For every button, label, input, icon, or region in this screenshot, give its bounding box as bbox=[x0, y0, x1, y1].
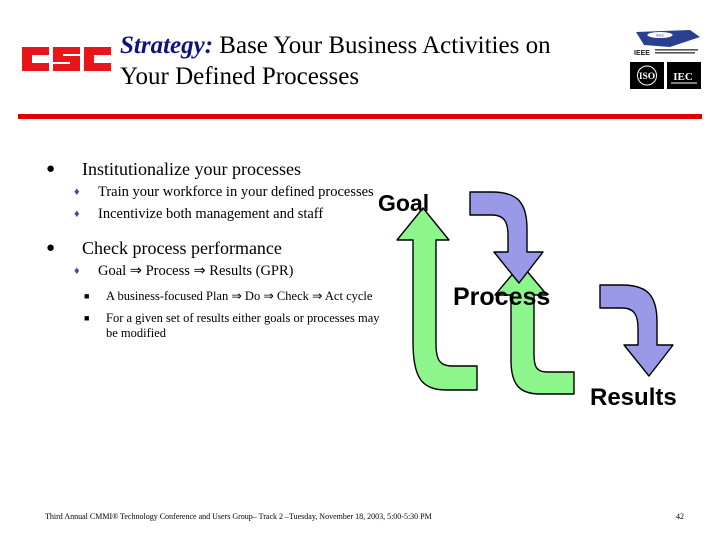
svg-text:IEEE: IEEE bbox=[634, 50, 650, 57]
bullet-text: Train your workforce in your defined pro… bbox=[98, 184, 374, 200]
footer-page-number: 42 bbox=[676, 512, 684, 521]
bullet-level1: ● Institutionalize your processes bbox=[36, 158, 386, 180]
csc-logo-graphic bbox=[20, 38, 120, 80]
bullet-marker-diamond: ♦ bbox=[74, 184, 80, 202]
diagram-label-process: Process bbox=[453, 283, 550, 312]
bullet-marker-diamond: ♦ bbox=[74, 206, 80, 224]
bullet-level3: ■ For a given set of results either goal… bbox=[72, 311, 386, 341]
bullet-text: A business-focused Plan ⇒ Do ⇒ Check ⇒ A… bbox=[106, 289, 372, 303]
ieee-logo: IEEE IEEE bbox=[630, 28, 702, 58]
title-line-1-rest: Base Your Business Activities on bbox=[213, 32, 551, 59]
bullet-level2: ♦ Train your workforce in your defined p… bbox=[60, 184, 386, 202]
bullet-level2: ♦ Goal ⇒ Process ⇒ Results (GPR) bbox=[60, 263, 386, 281]
iso-iec-logos: ISO IEC bbox=[630, 62, 706, 89]
bullet-text: For a given set of results either goals … bbox=[106, 311, 380, 340]
title-line-2: Your Defined Processes bbox=[120, 61, 620, 92]
bullet-marker-round: ● bbox=[46, 158, 55, 180]
slide-header: Strategy: Base Your Business Activities … bbox=[0, 0, 720, 112]
page-title: Strategy: Base Your Business Activities … bbox=[120, 30, 620, 92]
title-line-1: Strategy: Base Your Business Activities … bbox=[120, 30, 620, 61]
bullet-marker-round: ● bbox=[46, 237, 55, 259]
svg-text:IEC: IEC bbox=[673, 71, 693, 83]
bullet-text: Institutionalize your processes bbox=[82, 159, 301, 179]
csc-logo bbox=[20, 38, 120, 80]
iec-logo: IEC bbox=[667, 62, 701, 89]
bullet-text: Check process performance bbox=[82, 238, 282, 258]
blue-arrow-process-to-results bbox=[600, 285, 673, 376]
bullet-level1: ● Check process performance bbox=[36, 237, 386, 259]
svg-text:ISO: ISO bbox=[639, 72, 655, 82]
bullet-text: Incentivize both management and staff bbox=[98, 206, 323, 222]
bullet-marker-diamond: ♦ bbox=[74, 263, 80, 281]
header-divider-rule bbox=[18, 114, 702, 119]
bullet-marker-square: ■ bbox=[84, 311, 89, 326]
blue-arrow-goal-to-process bbox=[470, 192, 543, 283]
diagram-label-goal: Goal bbox=[378, 190, 429, 217]
bullet-text: Goal ⇒ Process ⇒ Results (GPR) bbox=[98, 263, 293, 279]
certification-logos: IEEE IEEE ISO IEC bbox=[630, 28, 706, 89]
svg-text:IEEE: IEEE bbox=[656, 34, 664, 38]
bullet-content: ● Institutionalize your processes ♦ Trai… bbox=[36, 158, 386, 341]
diagram-label-results: Results bbox=[590, 384, 677, 412]
gpr-cycle-diagram: Goal Process Results bbox=[370, 182, 715, 427]
bullet-marker-square: ■ bbox=[84, 289, 89, 304]
bullet-level3: ■ A business-focused Plan ⇒ Do ⇒ Check ⇒… bbox=[72, 289, 386, 304]
footer-attribution: Third Annual CMMI® Technology Conference… bbox=[45, 512, 432, 521]
title-strategy-word: Strategy: bbox=[120, 32, 213, 59]
iso-logo: ISO bbox=[630, 62, 664, 89]
bullet-level2: ♦ Incentivize both management and staff bbox=[60, 206, 386, 224]
